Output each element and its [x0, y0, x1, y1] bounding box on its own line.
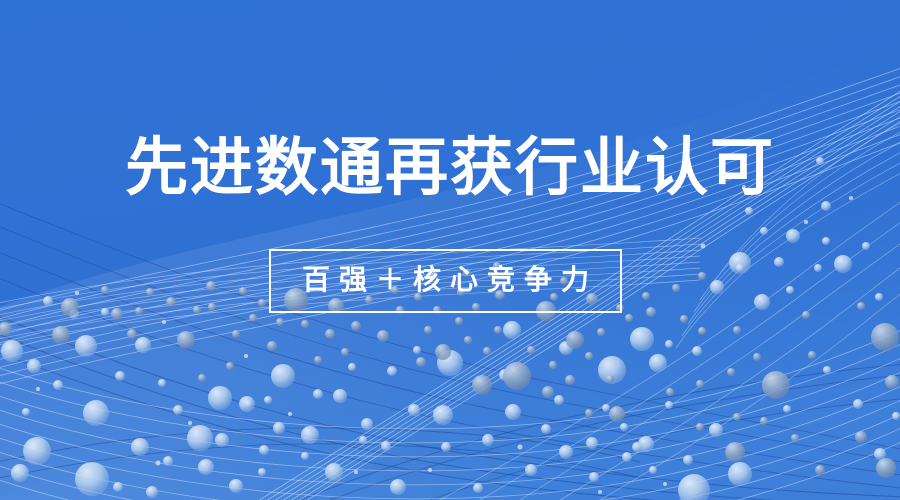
subtitle-badge: 百强＋核心竞争力: [269, 249, 622, 313]
promo-banner: 先进数通再获行业认可 百强＋核心竞争力: [0, 0, 900, 500]
page-title: 先进数通再获行业认可: [0, 131, 900, 205]
banner-content: 先进数通再获行业认可 百强＋核心竞争力: [0, 0, 900, 500]
subtitle-text: 百强＋核心竞争力: [293, 267, 598, 295]
